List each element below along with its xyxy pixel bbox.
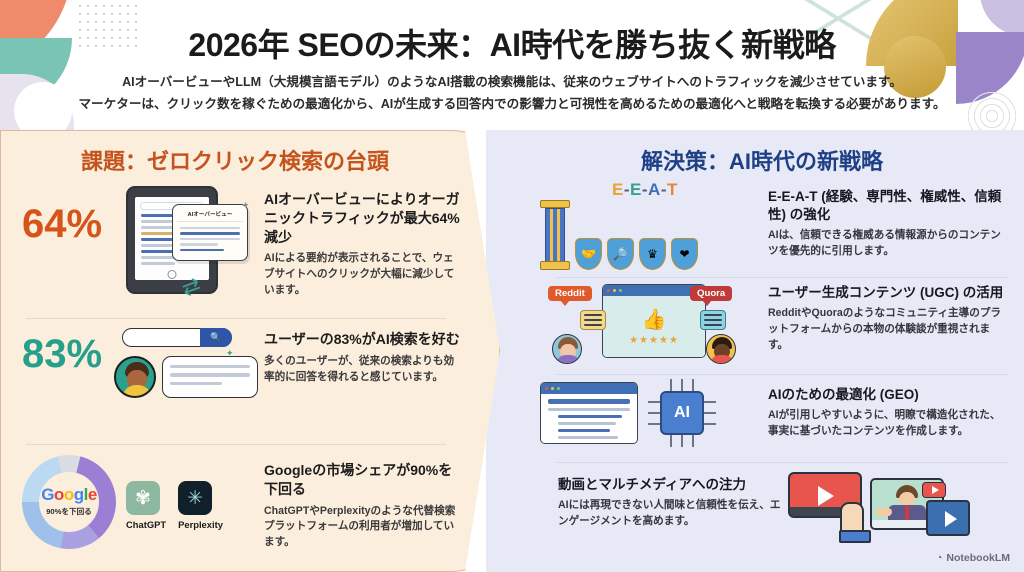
google-share-illustration: Google 90%を下回る ✾ ChatGPT ✳ Perplexity [22,455,264,549]
brand-footer: ◔ NotebookLM [936,552,1010,564]
right-item-1-body: AIは、信頼できる権威ある情報源からのコンテンツを優先的に引用します。 [768,228,1004,260]
right-item-2-body: RedditやQuoraのようなコミュニティ主導のプラットフォームからの本物の体… [768,306,1008,354]
window-dot-red [545,387,548,390]
search-bar-graphic: 🔍 [122,328,232,347]
pillar-icon [540,200,570,270]
bubble-line [180,232,240,234]
reddit-comment-group [552,310,606,364]
subtitle-line-2: マーケターは、クリック数を稼ぐための最適化から、AIが生成する回答内での影響力と… [52,94,972,116]
reddit-tag-group: Reddit [548,286,592,301]
right-panel-heading: 解決策：AI時代の新戦略 [500,144,1024,176]
perplexity-icon: ✳ [178,481,212,515]
eeat-illustration: E-E-A-T 🤝 🔎 ♛ ❤ [540,180,768,270]
stat-83-percent: 83% [22,334,114,374]
comment-bubble-icon [700,310,726,330]
right-item-1-text: E-E-A-T (経験、専門性、権威性、信頼性) の強化 AIは、信頼できる権威… [768,180,1004,260]
bubble-line [180,243,218,245]
eeat-letter: E [630,180,642,199]
right-item-4-text: 動画とマルチメディアへの注力 AIには再現できない人間味と信頼性を伝え、エンゲー… [558,470,788,530]
left-item-1: 64% AIオーバービュー [22,186,472,299]
right-item-3-body: AIが引用しやすいように、明瞭で構造化された、事実に基づいたコンテンツを作成しま… [768,408,1008,440]
quora-comment-group [700,310,736,364]
bubble-line [180,227,240,229]
infographic-poster: 2026年 SEOの未来：AI時代を勝ち抜く新戦略 AIオーバービューやLLM（… [0,0,1024,572]
logo-chatgpt: ✾ ChatGPT [126,481,166,530]
left-item-2-body: 多くのユーザーが、従来の検索よりも効率的に回答を得れると感じています。 [264,354,464,386]
search-illustration: 🔍 ✦ [114,328,264,398]
bubble-line [180,249,224,251]
chat-line [170,373,250,376]
bubble-line [180,238,240,240]
left-item-2-heading: ユーザーの83%がAI検索を好む [264,330,464,349]
left-item-2: 83% 🔍 ✦ ユーザーの83%がAI検索を好む 多 [22,328,472,398]
small-play-badge-icon [922,482,946,498]
ai-overview-speech-bubble: AIオーバービュー [172,204,248,261]
reddit-tag: Reddit [548,286,592,301]
window-dot-red [607,289,610,292]
right-item-2: Reddit Quora 👍 ★★★★★ [540,284,1018,362]
tablet-text-line [141,262,175,265]
notebooklm-icon: ◔ [936,552,942,564]
google-wordmark: Google [22,485,116,505]
shield-handshake-icon: 🤝 [575,238,602,270]
google-donut-chart: Google 90%を下回る [22,455,116,549]
right-item-2-heading: ユーザー生成コンテンツ (UGC) の活用 [768,284,1008,302]
right-item-4: 動画とマルチメディアへの注力 AIには再現できない人間味と信頼性を伝え、エンゲー… [558,470,1024,530]
shield-heart-icon: ❤ [671,238,698,270]
brand-label: NotebookLM [946,552,1010,564]
tablet-home-button-icon [168,270,177,279]
page-subtitle: AIオーバービューやLLM（大規模言語モデル）のようなAI搭載の検索機能は、従来… [52,72,972,115]
window-dot-green [557,387,560,390]
logo-perplexity: ✳ Perplexity [178,481,223,530]
structured-doc-window [540,382,638,444]
right-divider-2 [556,374,1008,375]
quora-tag: Quora [690,286,732,301]
pointing-hand-icon [840,502,864,536]
tablet-illustration: AIオーバービュー ✦ ⇄ [114,186,264,294]
thumbs-up-icon: 👍 [642,307,667,332]
left-item-3-heading: Googleの市場シェアが90%を下回る [264,461,464,499]
sparkle-icon: ✦ [242,200,250,211]
avatar-body [122,385,152,398]
page-title: 2026年 SEOの未来：AI時代を勝ち抜く新戦略 [0,20,1024,66]
eeat-letter: T [667,180,678,199]
right-divider-3 [556,462,1008,463]
eeat-letter: A [648,180,661,199]
search-icon: 🔍 [200,328,232,347]
left-divider-2 [26,444,446,445]
chat-bubble [162,356,258,398]
doc-heading-line [548,399,630,404]
left-item-3-text: Googleの市場シェアが90%を下回る ChatGPTやPerplexityの… [264,455,464,551]
window-dot-green [619,289,622,292]
sparkle-icon: ✦ [226,348,234,359]
window-title-bar [541,383,637,394]
eeat-letters: E-E-A-T [612,180,678,200]
geo-illustration: AI [540,382,768,444]
bubble-label: AIオーバービュー [177,210,243,222]
right-divider-1 [556,277,1008,278]
header: 2026年 SEOの未来：AI時代を勝ち抜く新戦略 AIオーバービューやLLM（… [0,0,1024,128]
donut-sublabel: 90%を下回る [22,506,116,517]
right-item-3-text: AIのための最適化 (GEO) AIが引用しやすいように、明瞭で構造化された、事… [768,382,1008,440]
doc-line [548,408,630,411]
subtitle-line-1: AIオーバービューやLLM（大規模言語モデル）のようなAI搭載の検索機能は、従来… [52,72,972,94]
tablet-text-line [141,238,175,241]
video-illustration [788,470,988,530]
logo-label: ChatGPT [126,519,166,530]
ai-chip-graphic: AI [660,391,704,435]
right-item-2-text: ユーザー生成コンテンツ (UGC) の活用 RedditやQuoraのようなコミ… [768,284,1008,354]
eeat-letter: E [612,180,624,199]
left-item-1-heading: AIオーバービューによりオーガニックトラフィックが最大64%減少 [264,190,464,246]
right-item-1: E-E-A-T 🤝 🔎 ♛ ❤ E-E-A-T (経験、専門性、権威性、信頼性)… [540,180,1018,270]
right-item-1-heading: E-E-A-T (経験、専門性、権威性、信頼性) の強化 [768,188,1004,224]
left-item-2-text: ユーザーの83%がAI検索を好む 多くのユーザーが、従来の検索よりも効率的に回答… [264,328,464,386]
stat-64-percent: 64% [22,204,114,244]
video-player-red [788,472,862,518]
left-item-1-body: AIによる要約が表示されることで、ウェブサイトへのクリックが大幅に減少しています… [264,251,464,299]
chatgpt-icon: ✾ [126,481,160,515]
shield-magnifier-icon: 🔎 [607,238,634,270]
right-item-3: AI AIのための最適化 (GEO) AIが引用しやすいように、明瞭で構造化され… [540,382,1018,444]
doc-line [558,436,618,439]
doc-line [558,422,616,425]
tablet-text-line [141,226,175,229]
quora-tag-group: Quora [690,286,732,301]
ugc-illustration: Reddit Quora 👍 ★★★★★ [540,284,768,362]
pillar-shaft [545,208,565,262]
doc-line [558,429,610,432]
left-item-1-text: AIオーバービューによりオーガニックトラフィックが最大64%減少 AIによる要約… [264,186,464,299]
pillar-and-shields: 🤝 🔎 ♛ ❤ [540,200,768,270]
avatar [552,334,582,364]
right-item-4-heading: 動画とマルチメディアへの注力 [558,476,788,494]
ai-chip-icon: AI [660,391,704,435]
left-panel-heading: 課題：ゼロクリック検索の台頭 [0,144,470,176]
film-strip-icon [926,500,970,536]
donut-center-label: Google 90%を下回る [22,485,116,517]
user-chat-group [114,356,264,398]
right-item-3-heading: AIのための最適化 (GEO) [768,386,1008,404]
window-dot-yellow [551,387,554,390]
logo-label: Perplexity [178,519,223,530]
right-item-4-body: AIには再現できない人間味と信頼性を伝え、エンゲージメントを高めます。 [558,498,788,530]
doc-line [558,415,622,418]
pillar-capital [540,200,570,208]
left-item-3: Google 90%を下回る ✾ ChatGPT ✳ Perplexity Go… [22,455,472,551]
pillar-base [540,261,570,270]
chat-line [170,365,250,368]
video-presenter [870,478,944,530]
window-content: 👍 ★★★★★ [603,296,705,357]
chat-line [170,382,222,385]
star-rating: ★★★★★ [629,335,679,346]
avatar [706,334,736,364]
avatar [114,356,156,398]
competitor-logos: ✾ ChatGPT ✳ Perplexity [126,481,223,530]
tag-label: Reddit [555,288,585,299]
tag-label: Quora [697,288,725,299]
window-dot-yellow [613,289,616,292]
document-outline [541,394,637,444]
comment-bubble-icon [580,310,606,330]
left-divider-1 [26,318,446,319]
left-item-3-body: ChatGPTやPerplexityのような代替検索プラットフォームの利用者が増… [264,504,464,552]
shield-crown-icon: ♛ [639,238,666,270]
